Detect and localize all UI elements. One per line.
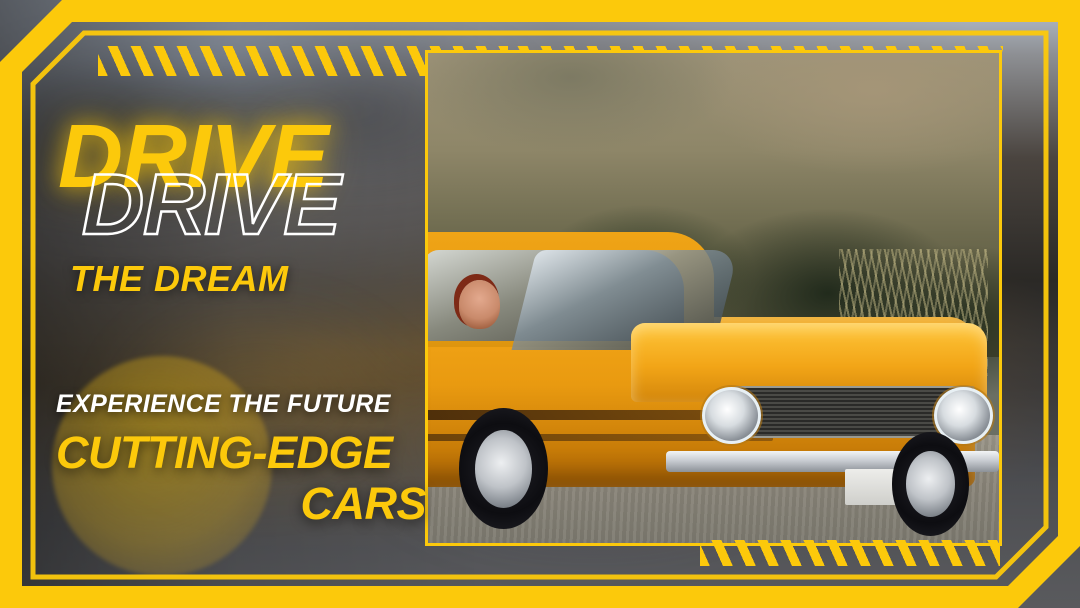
feature-photo-image — [428, 53, 999, 543]
car-driver — [459, 280, 501, 329]
hatch-stripes-bottom — [700, 540, 1000, 566]
car-wheel-rim — [475, 430, 532, 508]
photo-car — [428, 220, 999, 524]
lower-copy-group: EXPERIENCE THE FUTURE CUTTING-EDGE CARS — [56, 390, 426, 528]
feature-line-cars: CARS — [56, 480, 426, 527]
feature-line-cutting-edge: CUTTING-EDGE — [56, 429, 426, 476]
poster-canvas: DRIVE DRIVE THE DREAM EXPERIENCE THE FUT… — [0, 0, 1080, 608]
subheadline-the-dream: THE DREAM — [70, 258, 289, 300]
headline-drive-outline: DRIVE — [82, 162, 340, 248]
kicker-experience-the-future: EXPERIENCE THE FUTURE — [56, 390, 426, 419]
feature-photo-panel — [425, 50, 1002, 546]
car-wheel-rear — [892, 432, 969, 535]
car-wheel-rim — [906, 451, 955, 517]
car-wheel-front — [459, 408, 548, 530]
